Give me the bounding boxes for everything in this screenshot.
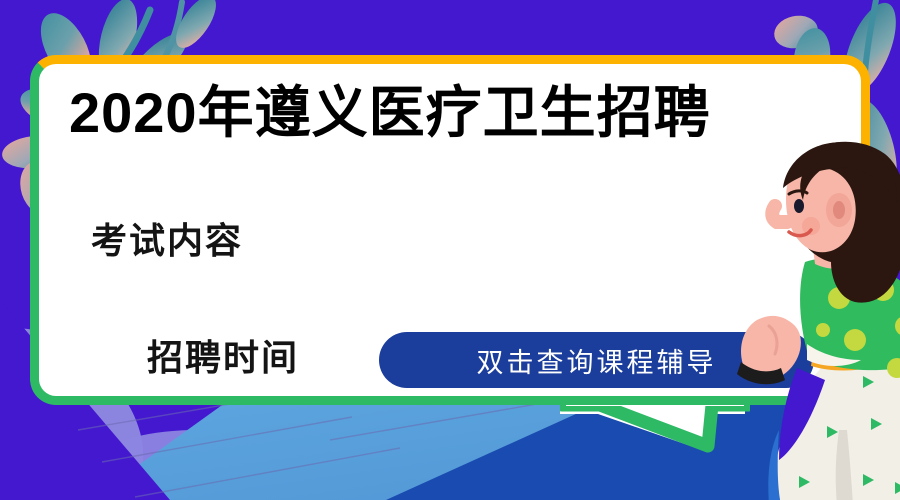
section-label-recruit-time: 招聘时间 bbox=[147, 329, 299, 381]
eye-icon bbox=[794, 199, 804, 213]
page-title: 2020年遵义医疗卫生招聘 bbox=[69, 82, 839, 144]
woman-character-icon bbox=[735, 130, 900, 500]
banner-stage: 2020年遵义医疗卫生招聘 考试内容 招聘时间 双击查询课程辅导 bbox=[0, 0, 900, 500]
section-label-exam-content: 考试内容 bbox=[91, 212, 243, 264]
